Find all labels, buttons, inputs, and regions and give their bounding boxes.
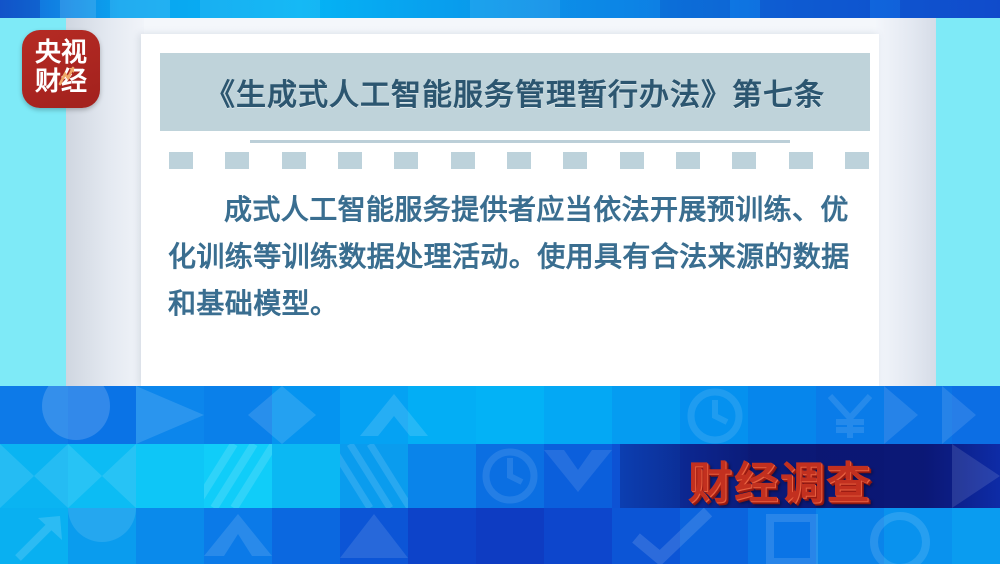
circle-outline-glyph bbox=[860, 508, 940, 564]
chevron-up-glyph bbox=[360, 386, 428, 444]
stripes-glyph bbox=[340, 444, 408, 508]
triangle-glyph bbox=[136, 386, 204, 444]
regulation-title-bar: 《生成式人工智能服务管理暂行办法》第七条 bbox=[160, 53, 870, 131]
circle-glyph bbox=[40, 386, 136, 444]
divider-square bbox=[620, 152, 644, 169]
program-banner: 财经调查 bbox=[645, 448, 915, 510]
divider-square bbox=[563, 152, 587, 169]
triangle-glyph bbox=[340, 508, 408, 564]
cross-glyph bbox=[0, 444, 136, 508]
divider-square bbox=[282, 152, 306, 169]
logo-line-1: 央视 bbox=[22, 39, 100, 67]
diamond-glyph bbox=[248, 386, 316, 444]
arrow-up-right-glyph bbox=[8, 510, 76, 564]
semicircle-glyph bbox=[68, 508, 136, 564]
broadcast-frame: 《生成式人工智能服务管理暂行办法》第七条 成式人工智能服务提供者应当依法开展预训… bbox=[0, 0, 1000, 564]
divider-rule bbox=[250, 140, 790, 143]
divider-square bbox=[169, 152, 193, 169]
divider-square bbox=[338, 152, 362, 169]
clock-glyph bbox=[476, 444, 544, 508]
chevron-down-glyph bbox=[544, 444, 612, 508]
yen-glyph bbox=[816, 386, 884, 444]
divider-square bbox=[789, 152, 813, 169]
divider-square bbox=[507, 152, 531, 169]
regulation-title: 《生成式人工智能服务管理暂行办法》第七条 bbox=[205, 70, 825, 114]
divider-square bbox=[845, 152, 869, 169]
clock-glyph bbox=[680, 388, 750, 444]
top-blue-strip bbox=[0, 0, 1000, 18]
divider-square bbox=[732, 152, 756, 169]
triangle-glyph bbox=[952, 444, 1000, 508]
chevron-glyph bbox=[884, 386, 1000, 444]
cctv-finance-logo: 央视 财经 bbox=[22, 30, 100, 108]
logo-line-2: 财经 bbox=[22, 68, 100, 96]
stripes-glyph bbox=[204, 444, 272, 508]
program-title: 财经调查 bbox=[688, 447, 872, 511]
right-gradient-panel bbox=[876, 18, 936, 386]
chevron-up-glyph bbox=[204, 508, 272, 564]
divider-square bbox=[225, 152, 249, 169]
divider-square bbox=[676, 152, 700, 169]
right-cyan-accent-bar bbox=[936, 18, 1000, 386]
square-outline-glyph bbox=[760, 510, 824, 564]
divider-square bbox=[394, 152, 418, 169]
check-glyph bbox=[612, 508, 732, 564]
divider-square bbox=[451, 152, 475, 169]
regulation-body-text: 成式人工智能服务提供者应当依法开展预训练、优化训练等训练数据处理活动。使用具有合… bbox=[168, 186, 868, 327]
dashed-square-divider bbox=[169, 152, 869, 169]
